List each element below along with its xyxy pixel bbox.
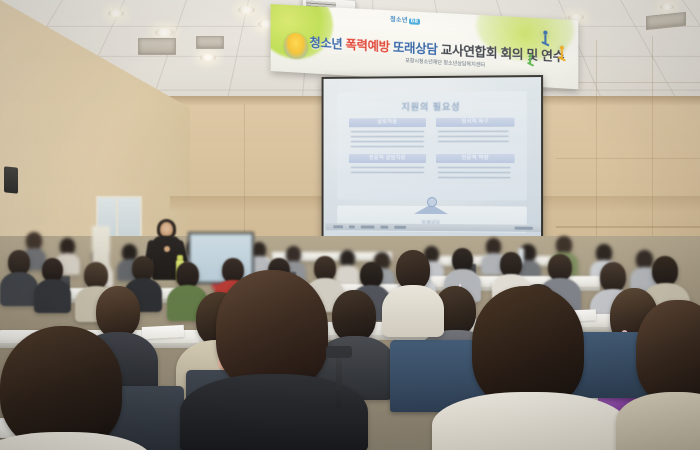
banner-badge-prefix: 청소년 [390, 17, 408, 24]
banner-title-part1: 청소년 [309, 36, 342, 52]
slide-box-heading: 전문적 상담지원 [349, 154, 426, 163]
slide-box-heading: 상호작용 [349, 118, 426, 127]
banner-badge-highlight: 68 [409, 18, 420, 25]
handout-paper [142, 325, 185, 339]
umbrella-shield-knob-icon [427, 197, 437, 207]
slide-title: 지원의 필요성 [337, 99, 527, 113]
presenter-face [162, 224, 171, 235]
downlight-icon [155, 28, 174, 37]
presentation-slide: 지원의 필요성 상호작용 정서적 욕구 전문적 상담지원 전문적 역량 [337, 91, 527, 200]
wall-seam [556, 226, 700, 228]
banner-title-part2: 폭력예방 [346, 38, 390, 54]
slide-box-3-heading: 전문적 역량 [436, 154, 515, 162]
slide-box-1-heading: 정서적 욕구 [436, 118, 515, 126]
ceiling-vent [196, 36, 224, 49]
slide-box-0-body [351, 131, 424, 147]
seminar-room-photo: 청소년68 청소년 폭력예방 또래상담 교사연합회 회의 및 연수 포항시청소년… [0, 0, 700, 450]
slide-box-1-body [438, 131, 508, 142]
downlight-icon [660, 4, 674, 10]
projection-screen-frame: 지원의 필요성 상호작용 정서적 욕구 전문적 상담지원 전문적 역량 [322, 75, 543, 241]
downlight-icon [108, 10, 124, 17]
presenter-hand [164, 246, 170, 252]
slide-box-0-heading: 상호작용 [349, 118, 426, 126]
slide-box-3-body [438, 167, 511, 178]
youth-mascot-logo-icon [284, 32, 307, 59]
slide-box-heading: 전문적 역량 [436, 154, 515, 163]
wall-speaker-icon [4, 166, 18, 193]
wall-seam [244, 104, 245, 252]
wall-seam [652, 36, 653, 250]
slide-box-heading: 정서적 욕구 [436, 118, 515, 127]
bottle-cap [177, 255, 183, 261]
slide-box-2-body [351, 167, 424, 173]
banner-title-part3: 또래상담 [393, 40, 438, 57]
downlight-icon [238, 6, 255, 14]
downlight-icon [200, 54, 216, 61]
ceiling-vent [138, 38, 176, 55]
equipment-head [326, 346, 352, 358]
wall-seam [596, 40, 597, 250]
slide-box-2-heading: 전문적 상담지원 [349, 154, 426, 162]
wall-seam [556, 158, 700, 159]
projection-screen: 지원의 필요성 상호작용 정서적 욕구 전문적 상담지원 전문적 역량 [324, 77, 541, 239]
banner-top-badge: 청소년68 [390, 14, 420, 25]
equipment-stand [336, 352, 342, 408]
